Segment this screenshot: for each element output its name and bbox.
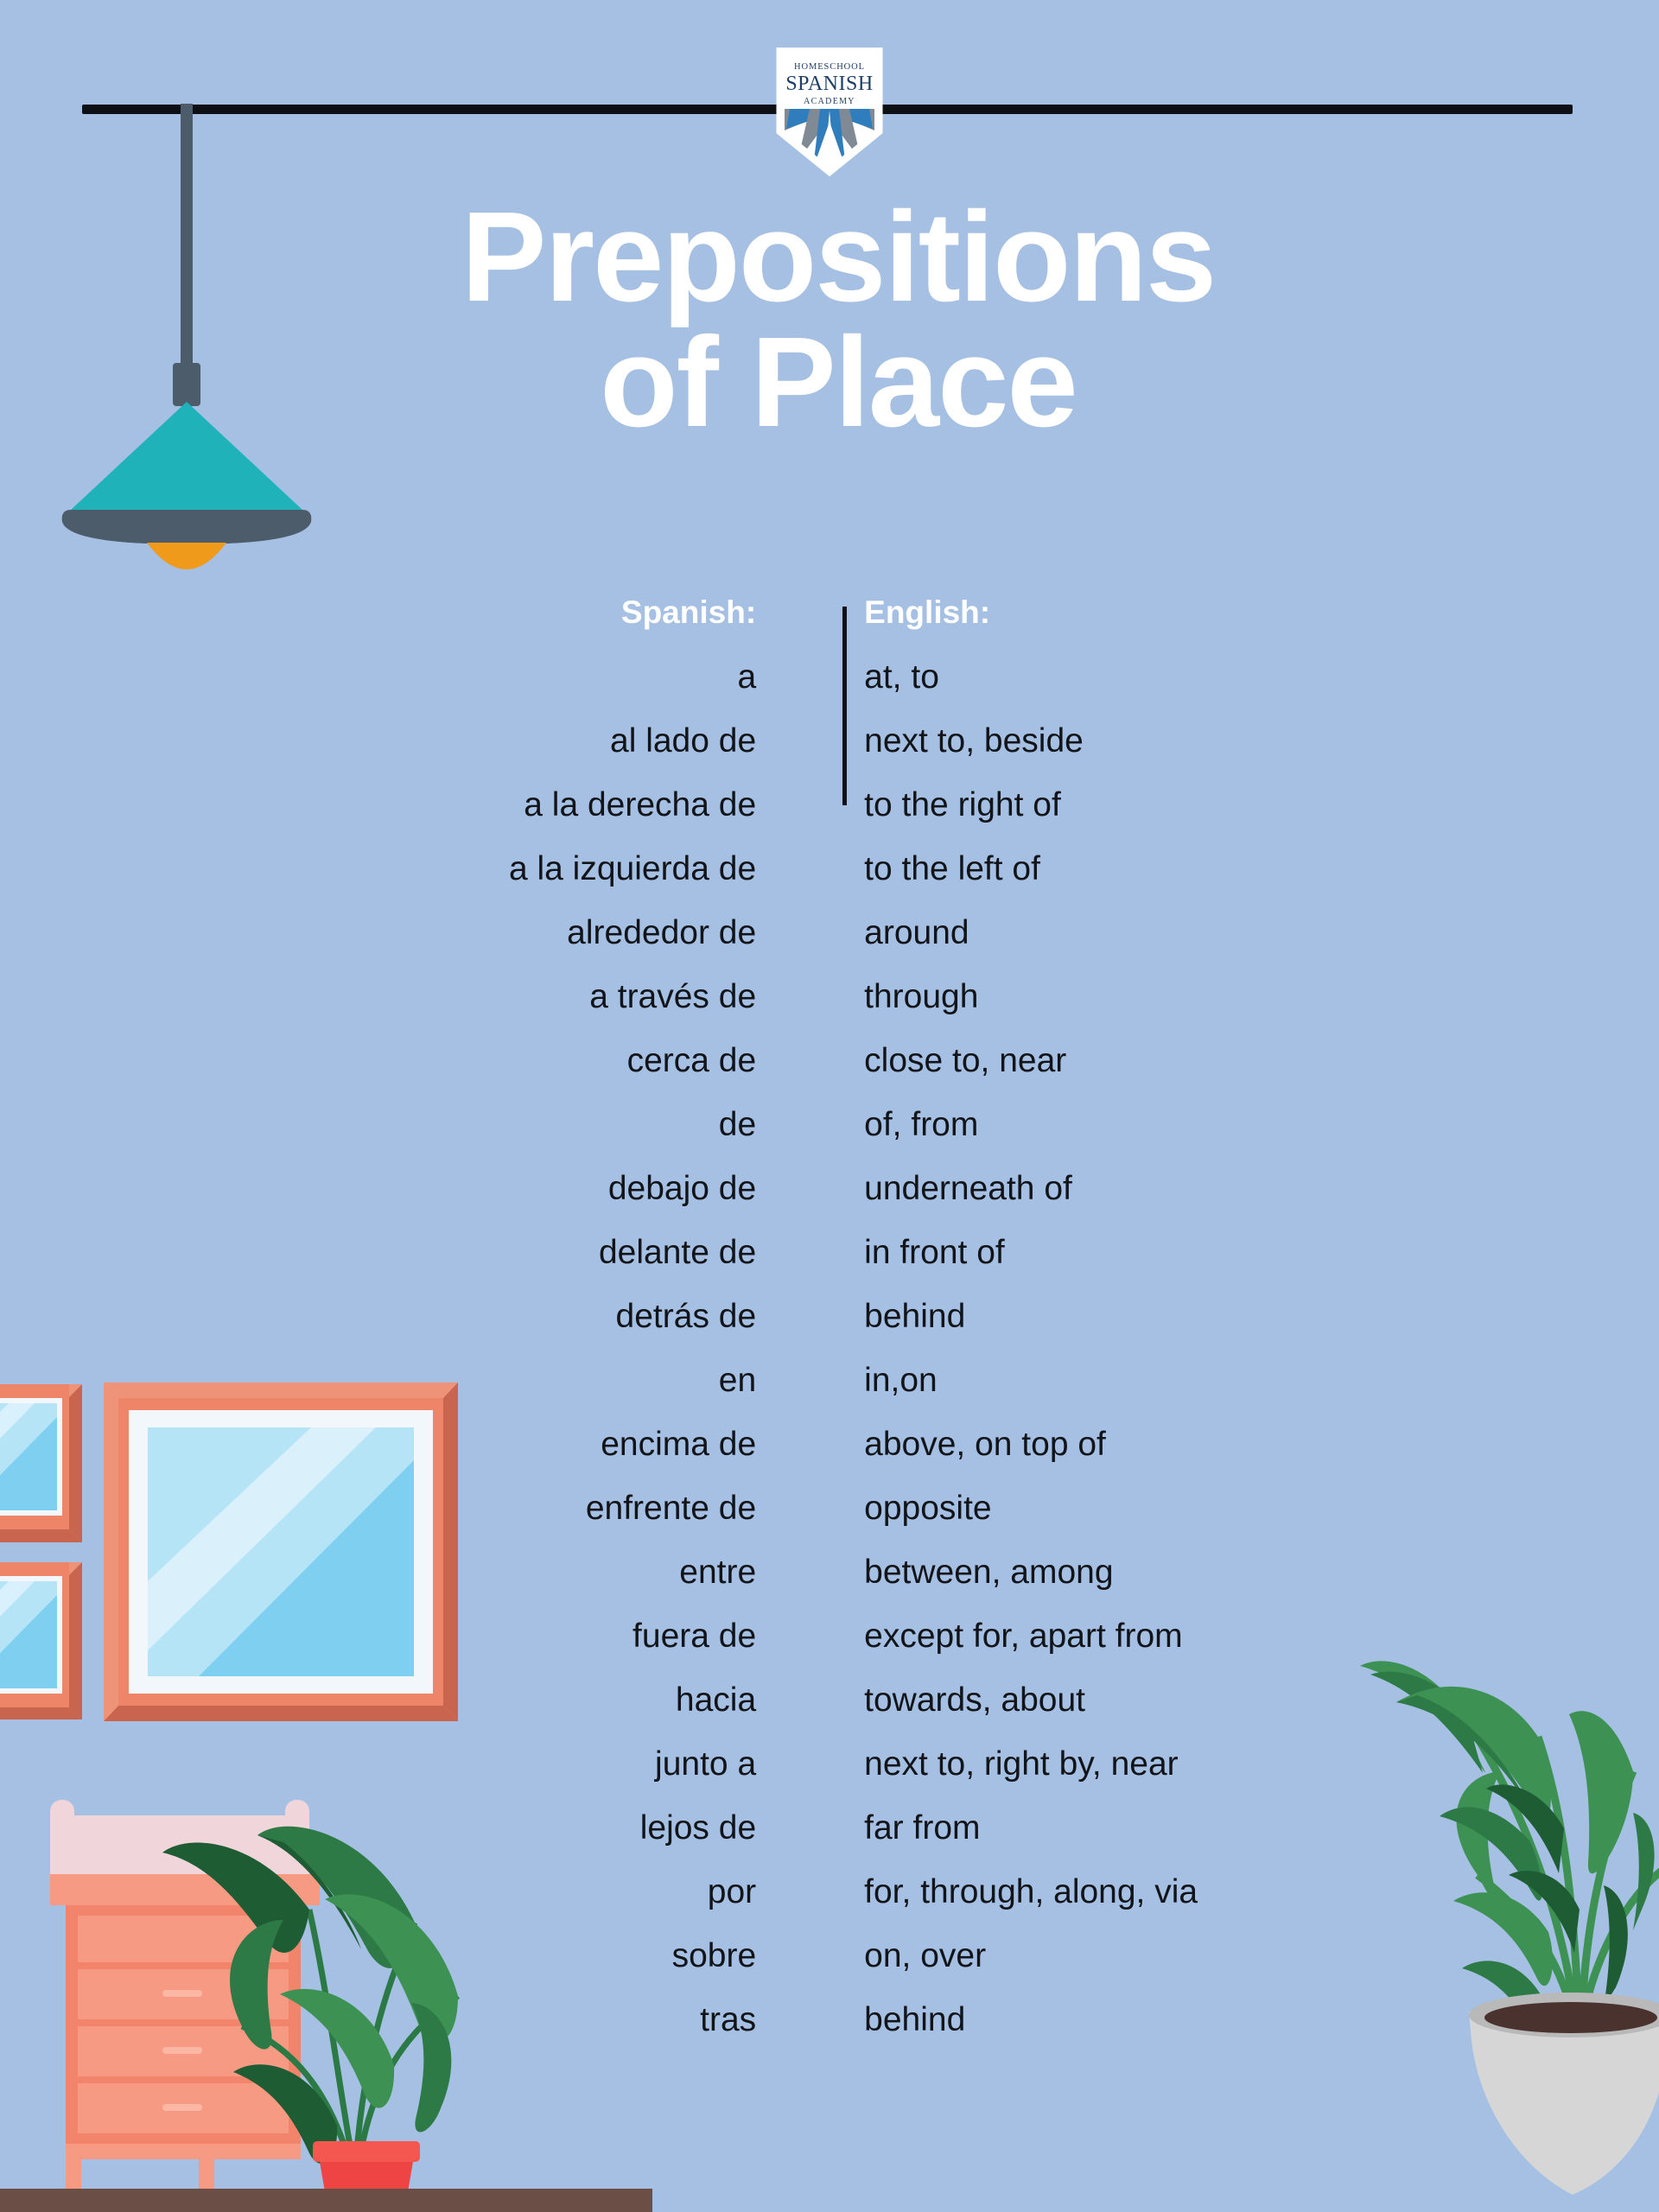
table-row: a través dethrough: [406, 980, 1305, 1044]
cell-spanish: detrás de: [406, 1300, 756, 1333]
table-row: trasbehind: [406, 2003, 1305, 2067]
prepositions-table: Spanish: English: aat, to al lado denext…: [406, 596, 1305, 2067]
table-row: a la derecha deto the right of: [406, 788, 1305, 852]
table-row: entrebetween, among: [406, 1555, 1305, 1619]
potted-plant-right: [1357, 1624, 1659, 2212]
table-row: haciatowards, about: [406, 1683, 1305, 1747]
logo-line3: ACADEMY: [804, 97, 855, 106]
cell-spanish: a la izquierda de: [406, 852, 756, 886]
wall-picture-frames: [0, 1365, 467, 1737]
cell-english: around: [756, 916, 1305, 950]
cell-english: close to, near: [756, 1044, 1305, 1077]
cell-english: above, on top of: [756, 1427, 1305, 1461]
table-row: delante dein front of: [406, 1236, 1305, 1300]
table-row: enin,on: [406, 1363, 1305, 1427]
poster-canvas: HOMESCHOOL SPANISH ACADEMY: [0, 0, 1659, 2212]
column-header-english: English:: [756, 596, 1305, 628]
potted-plant-left-icon: [156, 1780, 527, 2212]
table-row: deof, from: [406, 1108, 1305, 1172]
cell-english: next to, beside: [756, 724, 1305, 758]
cell-english: for, through, along, via: [756, 1875, 1305, 1909]
floor-strip: [0, 2189, 652, 2212]
shield-logo-icon: HOMESCHOOL SPANISH ACADEMY: [775, 48, 884, 177]
cell-english: to the left of: [756, 852, 1305, 886]
cell-english: far from: [756, 1811, 1305, 1845]
table-row: porfor, through, along, via: [406, 1875, 1305, 1939]
cell-english: behind: [756, 1300, 1305, 1333]
table-row: alrededor dearound: [406, 916, 1305, 980]
column-header-spanish: Spanish:: [406, 596, 756, 628]
potted-plant-left: [156, 1780, 527, 2212]
table-row: a la izquierda deto the left of: [406, 852, 1305, 916]
table-row: junto anext to, right by, near: [406, 1747, 1305, 1811]
cell-english: except for, apart from: [756, 1619, 1305, 1653]
cell-spanish: delante de: [406, 1236, 756, 1269]
cell-english: on, over: [756, 1939, 1305, 1973]
cell-spanish: a través de: [406, 980, 756, 1014]
cell-spanish: alrededor de: [406, 916, 756, 950]
picture-frames-icon: [0, 1365, 467, 1737]
cell-english: of, from: [756, 1108, 1305, 1141]
cell-english: next to, right by, near: [756, 1747, 1305, 1781]
cell-spanish: de: [406, 1108, 756, 1141]
cell-english: to the right of: [756, 788, 1305, 822]
cell-english: at, to: [756, 660, 1305, 694]
cell-spanish: al lado de: [406, 724, 756, 758]
cell-spanish: cerca de: [406, 1044, 756, 1077]
potted-plant-right-icon: [1357, 1624, 1659, 2212]
cell-english: towards, about: [756, 1683, 1305, 1717]
page-title: Prepositions of Place: [285, 194, 1391, 445]
table-row: lejos defar from: [406, 1811, 1305, 1875]
cell-spanish: a: [406, 660, 756, 694]
table-row: aat, to: [406, 660, 1305, 724]
title-line-2: of Place: [285, 320, 1391, 445]
table-row: detrás debehind: [406, 1300, 1305, 1363]
table-header-row: Spanish: English:: [406, 596, 1305, 660]
logo-line2: SPANISH: [785, 73, 873, 95]
cell-english: in,on: [756, 1363, 1305, 1397]
cell-english: underneath of: [756, 1172, 1305, 1205]
cell-spanish: debajo de: [406, 1172, 756, 1205]
cell-spanish: junto a: [406, 1747, 756, 1781]
cell-english: in front of: [756, 1236, 1305, 1269]
table-row: enfrente deopposite: [406, 1491, 1305, 1555]
table-row: fuera deexcept for, apart from: [406, 1619, 1305, 1683]
table-row: cerca declose to, near: [406, 1044, 1305, 1108]
cell-english: opposite: [756, 1491, 1305, 1525]
table-row: al lado denext to, beside: [406, 724, 1305, 788]
cell-english: between, among: [756, 1555, 1305, 1589]
title-line-1: Prepositions: [461, 186, 1215, 328]
cell-english: behind: [756, 2003, 1305, 2037]
logo-line1: HOMESCHOOL: [794, 62, 865, 72]
table-row: encima deabove, on top of: [406, 1427, 1305, 1491]
homeschool-spanish-academy-shield-logo: HOMESCHOOL SPANISH ACADEMY: [775, 48, 884, 177]
cell-english: through: [756, 980, 1305, 1014]
table-row: debajo deunderneath of: [406, 1172, 1305, 1236]
table-row: sobreon, over: [406, 1939, 1305, 2003]
cell-spanish: a la derecha de: [406, 788, 756, 822]
